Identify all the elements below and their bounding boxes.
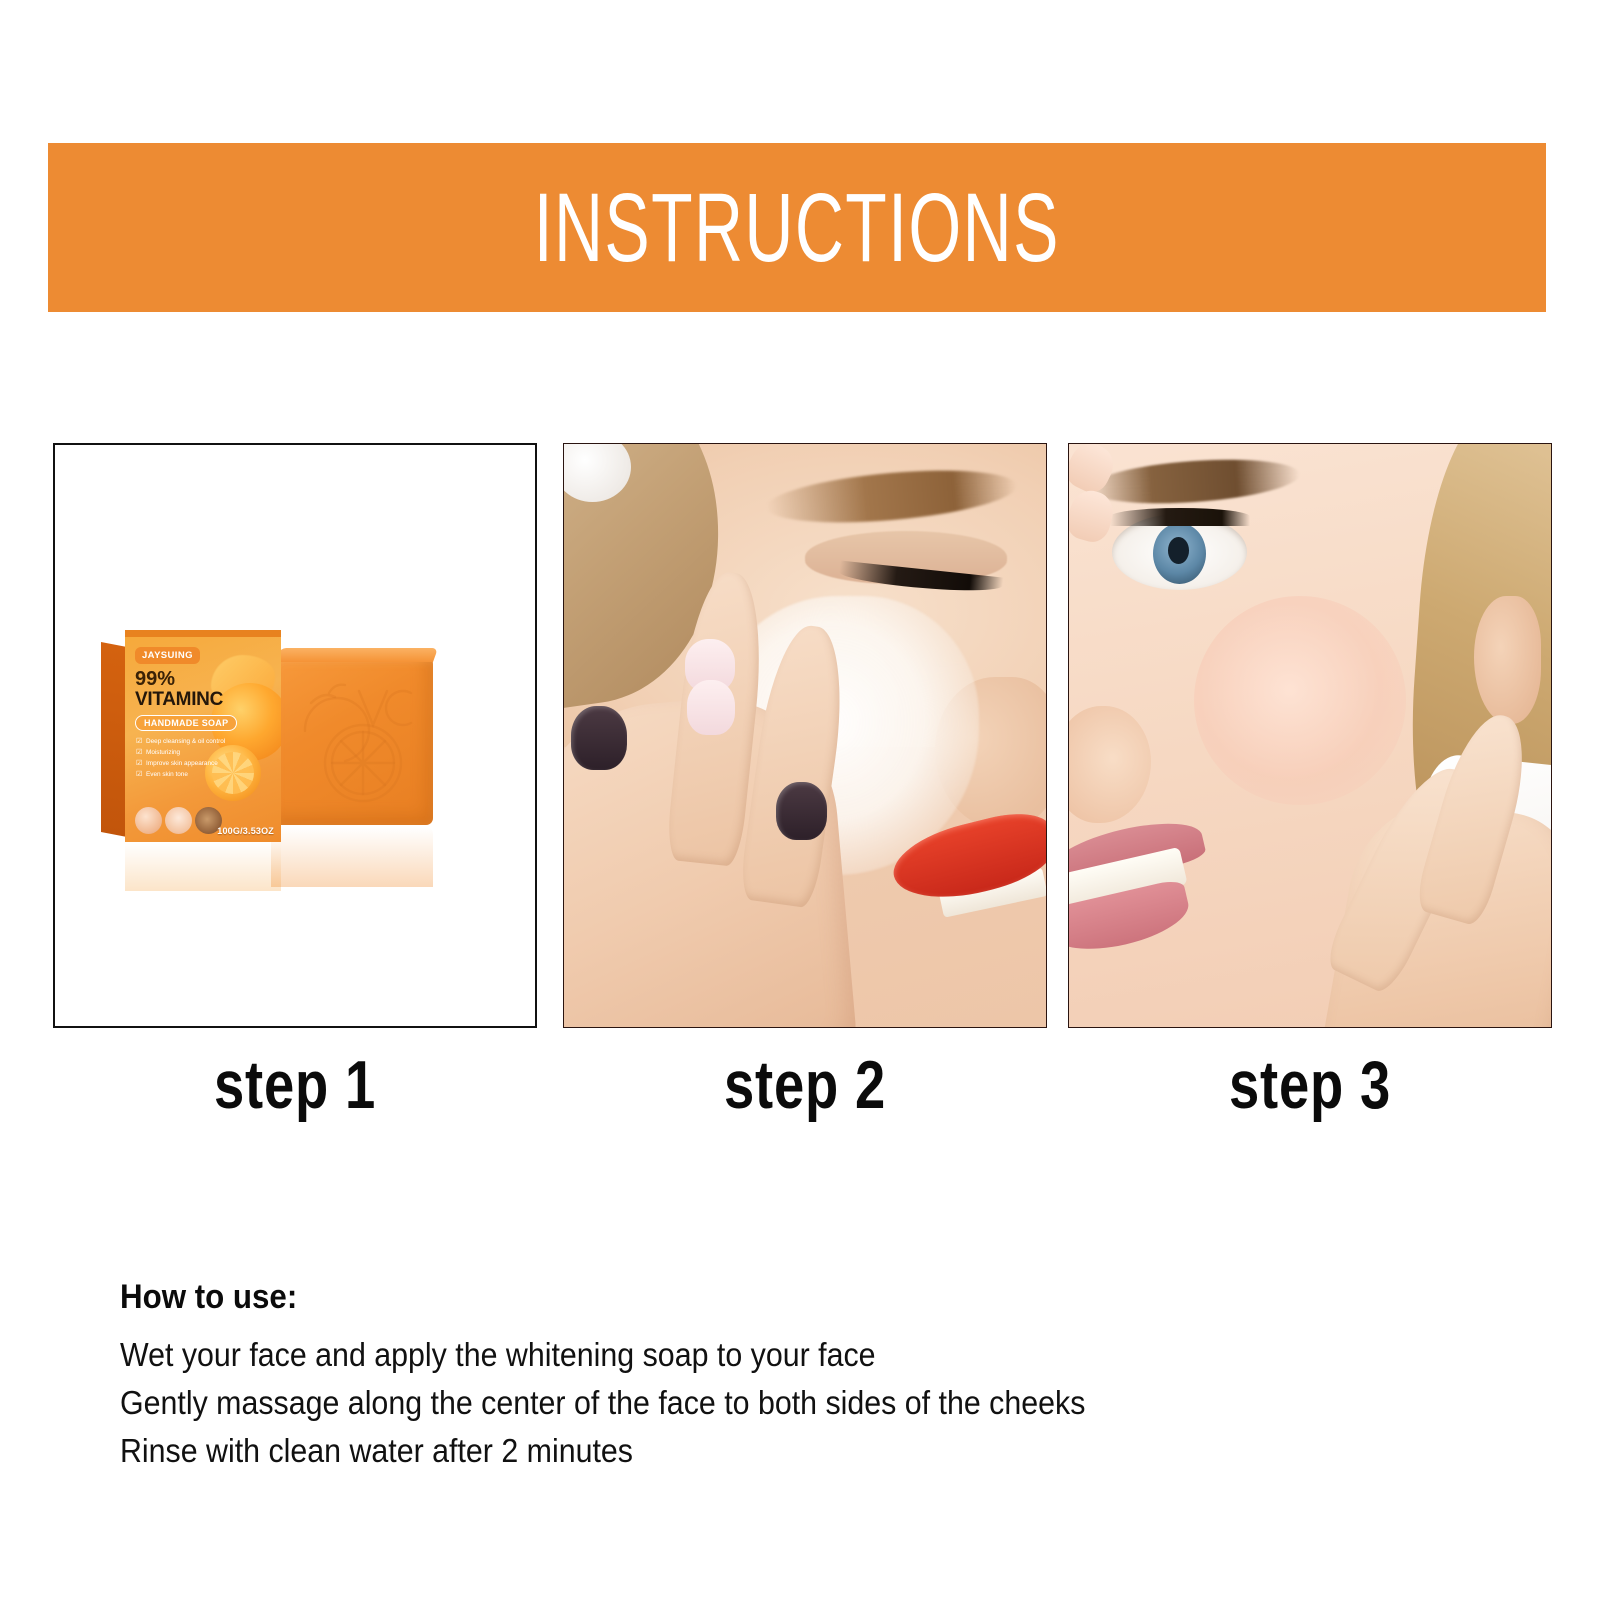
product-subtitle: HANDMADE SOAP [135,715,237,731]
page-title: INSTRUCTIONS [534,172,1060,284]
how-to-use-heading: How to use: [120,1278,1316,1317]
benefit-item: Even skin tone [136,769,256,780]
brand-badge: JAYSUING [135,647,200,664]
ear [1474,596,1541,724]
soap-reflection [271,827,433,887]
product-name: VITAMINC [135,690,223,709]
how-to-use-line: Wet your face and apply the whitening so… [120,1331,1316,1379]
nose [1069,706,1151,823]
step-2-image-panel [563,443,1047,1028]
step-3-label: step 3 [1116,1046,1503,1124]
soap-emboss-vc-orange-icon [271,657,433,825]
step-2-label: step 2 [611,1046,998,1124]
step-panels-row: JAYSUING 99% VITAMINC HANDMADE SOAP Deep… [0,443,1600,1028]
usage-thumbnail [135,807,162,834]
step-1-label: step 1 [101,1046,488,1124]
soap-bar [271,657,433,825]
carton-front-face: JAYSUING 99% VITAMINC HANDMADE SOAP Deep… [125,637,281,842]
how-to-use-section: How to use: Wet your face and apply the … [120,1278,1420,1475]
how-to-use-line: Gently massage along the center of the f… [120,1379,1316,1427]
step-labels-row: step 1 step 2 step 3 [0,1046,1600,1146]
step-1-image-panel: JAYSUING 99% VITAMINC HANDMADE SOAP Deep… [53,443,537,1028]
fingernail [776,782,827,840]
usage-thumbnail-strip [135,807,222,834]
product-percent: 99% [135,669,175,689]
product-photo: JAYSUING 99% VITAMINC HANDMADE SOAP Deep… [55,445,535,1026]
product-carton: JAYSUING 99% VITAMINC HANDMADE SOAP Deep… [101,637,281,842]
benefit-item: Moisturizing [136,747,256,758]
fingernail [571,706,626,770]
product-net-weight: 100G/3.53OZ [217,826,274,836]
product-benefit-list: Deep cleansing & oil control Moisturizin… [136,736,256,780]
eyelashes [1110,508,1250,525]
cheek-highlight [1194,596,1406,806]
benefit-item: Deep cleansing & oil control [136,736,256,747]
fingernail [687,680,735,735]
instructions-header-banner: INSTRUCTIONS [48,143,1546,312]
step-3-image-panel [1068,443,1552,1028]
clear-skin-result-photo [1069,444,1551,1027]
carton-side-face [101,642,127,837]
applying-soap-photo [564,444,1046,1027]
eyebrow [1087,454,1301,509]
usage-thumbnail [165,807,192,834]
carton-reflection [125,843,281,891]
benefit-item: Improve skin appearance [136,758,256,769]
how-to-use-line: Rinse with clean water after 2 minutes [120,1427,1316,1475]
